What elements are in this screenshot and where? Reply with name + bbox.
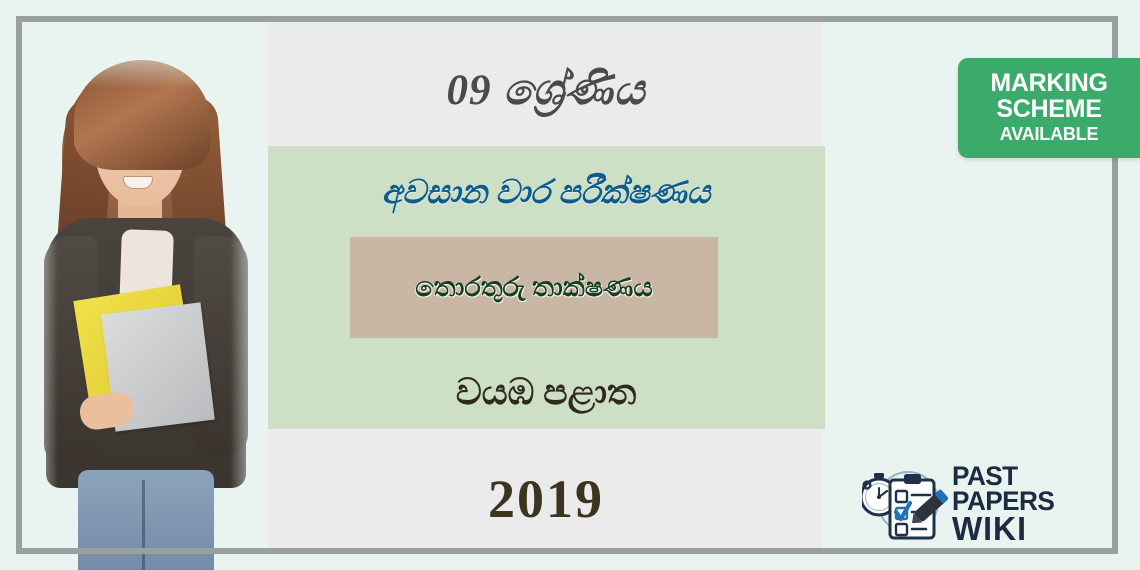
logo-wordmark: PAST PAPERS WIKI: [952, 464, 1114, 545]
photo-edge-fade: [24, 40, 264, 570]
logo-line-2: WIKI: [952, 514, 1109, 545]
marking-scheme-badge: MARKING SCHEME AVAILABLE: [958, 58, 1140, 158]
subject-title: තොරතුරු තාක්ෂණය: [415, 271, 653, 303]
badge-line-3: AVAILABLE: [1000, 124, 1099, 145]
badge-line-2: SCHEME: [996, 97, 1101, 123]
student-photo: [24, 40, 264, 570]
logo-line-1: PAST PAPERS: [952, 464, 1109, 514]
subject-box: තොරතුරු තාක්ෂණය: [350, 237, 718, 338]
exam-title: අවසාන වාර පරීක්ෂණය: [268, 175, 824, 213]
badge-line-1: MARKING: [990, 71, 1107, 97]
past-papers-wiki-logo: PAST PAPERS WIKI: [862, 462, 1114, 546]
clipboard-checklist-icon: [862, 464, 948, 544]
province-title: වයඹ පළාත: [268, 372, 824, 413]
cover-text-column: 09 ශ්‍රේණිය අවසාන වාර පරීක්ෂණය තොරතුරු ත…: [268, 17, 824, 554]
cover-image: 09 ශ්‍රේණිය අවසාන වාර පරීක්ෂණය තොරතුරු ත…: [0, 0, 1140, 570]
grade-title: 09 ශ්‍රේණිය: [268, 67, 824, 114]
year-label: 2019: [268, 472, 824, 526]
